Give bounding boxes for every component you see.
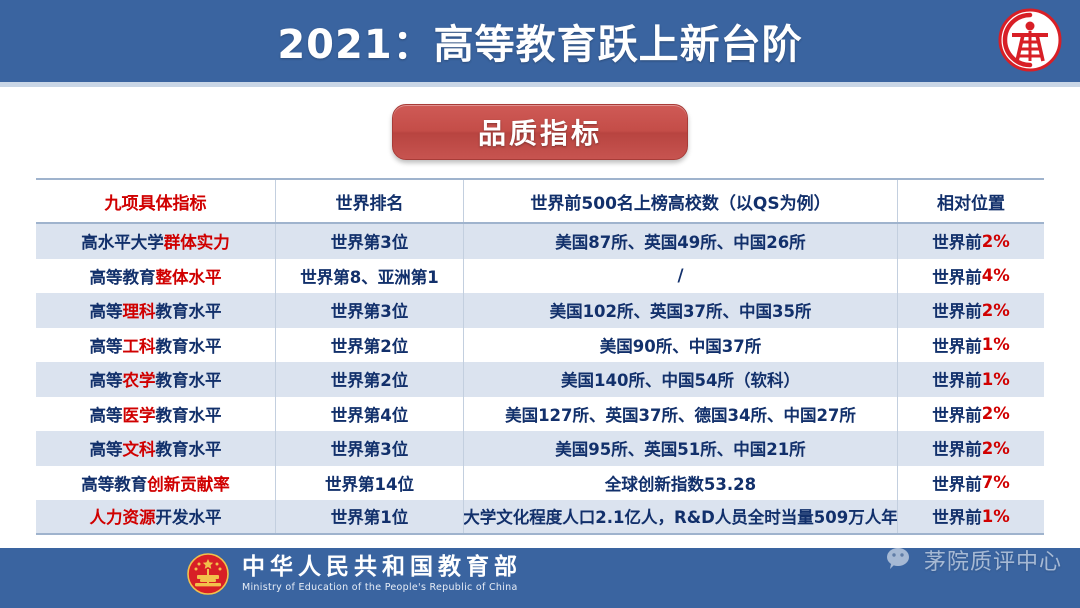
china-national-emblem-icon [186, 552, 230, 596]
indicator-text-accent: 农学 [123, 367, 156, 391]
table-row: 高等教育整体水平世界第8、亚洲第1/世界前4% [36, 259, 1044, 294]
indicator-text-accent: 人力资源 [90, 504, 156, 528]
cell-indicator: 人力资源开发水平 [36, 500, 276, 533]
table-row: 高水平大学群体实力世界第3位美国87所、英国49所、中国26所世界前2% [36, 224, 1044, 259]
cell-world-rank: 世界第3位 [276, 293, 464, 328]
column-header-qs-count: 世界前500名上榜高校数（以QS为例） [464, 180, 898, 222]
cell-relative-position: 世界前2% [898, 224, 1044, 259]
table-row: 高等理科教育水平世界第3位美国102所、英国37所、中国35所世界前2% [36, 293, 1044, 328]
table-row: 高等医学教育水平世界第4位美国127所、英国37所、德国34所、中国27所世界前… [36, 397, 1044, 432]
position-value: 2% [982, 439, 1010, 458]
cell-qs-count: 美国90所、中国37所 [464, 328, 898, 363]
indicator-text-plain: 高等 [90, 298, 123, 322]
table-row: 人力资源开发水平世界第1位大学文化程度人口2.1亿人，R&D人员全时当量509万… [36, 500, 1044, 535]
cell-qs-count: 美国95所、英国51所、中国21所 [464, 431, 898, 466]
position-value: 4% [982, 266, 1010, 285]
indicator-text-tail: 教育水平 [156, 402, 222, 426]
indicator-text-accent: 创新贡献率 [147, 471, 230, 495]
indicator-text-tail: 教育水平 [156, 367, 222, 391]
table-row: 高等文科教育水平世界第3位美国95所、英国51所、中国21所世界前2% [36, 431, 1044, 466]
table-row: 高等工科教育水平世界第2位美国90所、中国37所世界前1% [36, 328, 1044, 363]
watermark-label: 茅院质评中心 [924, 544, 1062, 576]
indicator-text-plain: 高等教育 [90, 264, 156, 288]
indicator-text-tail: 教育水平 [156, 298, 222, 322]
indicator-text-plain: 高等 [90, 367, 123, 391]
position-text-plain: 世界前 [932, 367, 982, 391]
ministry-text: 中华人民共和国教育部 Ministry of Education of the … [242, 554, 522, 594]
position-text-plain: 世界前 [932, 229, 982, 253]
indicator-text-accent: 整体水平 [156, 264, 222, 288]
wechat-icon [886, 547, 916, 573]
cell-relative-position: 世界前7% [898, 466, 1044, 501]
table-row: 高等教育创新贡献率世界第14位全球创新指数53.28世界前7% [36, 466, 1044, 501]
ministry-name-en: Ministry of Education of the People's Re… [242, 581, 522, 594]
position-value: 2% [982, 232, 1010, 251]
position-text-plain: 世界前 [932, 504, 982, 528]
cell-world-rank: 世界第1位 [276, 500, 464, 533]
cell-indicator: 高等工科教育水平 [36, 328, 276, 363]
title-banner: 2021：高等教育跃上新台阶 [0, 0, 1080, 82]
cell-qs-count: 美国87所、英国49所、中国26所 [464, 224, 898, 259]
watermark-rule [850, 538, 1062, 540]
position-text-plain: 世界前 [932, 436, 982, 460]
section-badge-wrapper: 品质指标 [0, 104, 1080, 160]
indicator-text-plain: 高等 [90, 436, 123, 460]
indicator-text-tail: 教育水平 [156, 436, 222, 460]
cell-world-rank: 世界第2位 [276, 328, 464, 363]
cell-relative-position: 世界前2% [898, 431, 1044, 466]
cell-indicator: 高等文科教育水平 [36, 431, 276, 466]
cell-relative-position: 世界前1% [898, 362, 1044, 397]
indicator-text-accent: 理科 [123, 298, 156, 322]
position-text-plain: 世界前 [932, 471, 982, 495]
ministry-block: 中华人民共和国教育部 Ministry of Education of the … [186, 552, 522, 596]
indicators-table: 九项具体指标 世界排名 世界前500名上榜高校数（以QS为例） 相对位置 高水平… [36, 178, 1044, 535]
cell-world-rank: 世界第2位 [276, 362, 464, 397]
cell-qs-count: / [464, 259, 898, 294]
table-body: 高水平大学群体实力世界第3位美国87所、英国49所、中国26所世界前2%高等教育… [36, 224, 1044, 535]
position-value: 1% [982, 370, 1010, 389]
cell-world-rank: 世界第3位 [276, 431, 464, 466]
cell-relative-position: 世界前1% [898, 500, 1044, 533]
wechat-watermark: 茅院质评中心 [886, 544, 1062, 576]
institute-tower-emblem-icon [996, 6, 1064, 74]
cell-indicator: 高等农学教育水平 [36, 362, 276, 397]
table-row: 高等农学教育水平世界第2位美国140所、中国54所（软科）世界前1% [36, 362, 1044, 397]
cell-relative-position: 世界前2% [898, 293, 1044, 328]
cell-qs-count: 美国140所、中国54所（软科） [464, 362, 898, 397]
cell-world-rank: 世界第14位 [276, 466, 464, 501]
banner-underline [0, 82, 1080, 87]
indicator-text-accent: 群体实力 [164, 229, 230, 253]
column-header-indicator: 九项具体指标 [36, 180, 276, 222]
column-header-world-rank: 世界排名 [276, 180, 464, 222]
cell-indicator: 高等理科教育水平 [36, 293, 276, 328]
position-value: 2% [982, 301, 1010, 320]
cell-indicator: 高等教育整体水平 [36, 259, 276, 294]
cell-qs-count: 全球创新指数53.28 [464, 466, 898, 501]
indicator-text-plain: 高等 [90, 402, 123, 426]
position-text-plain: 世界前 [932, 264, 982, 288]
cell-qs-count: 大学文化程度人口2.1亿人，R&D人员全时当量509万人年 [464, 500, 898, 533]
indicator-text-accent: 文科 [123, 436, 156, 460]
table-header-row: 九项具体指标 世界排名 世界前500名上榜高校数（以QS为例） 相对位置 [36, 180, 1044, 224]
position-value: 2% [982, 404, 1010, 423]
position-text-plain: 世界前 [932, 402, 982, 426]
cell-relative-position: 世界前2% [898, 397, 1044, 432]
indicator-text-plain: 高水平大学 [81, 229, 164, 253]
cell-relative-position: 世界前4% [898, 259, 1044, 294]
indicator-text-plain: 高等 [90, 333, 123, 357]
indicator-text-tail: 开发水平 [156, 504, 222, 528]
section-badge: 品质指标 [392, 104, 688, 160]
slide-root: 2021：高等教育跃上新台阶 品质指标 九项具体指标 世界排名 世界前500名上… [0, 0, 1080, 608]
indicator-text-plain: 高等教育 [81, 471, 147, 495]
cell-qs-count: 美国127所、英国37所、德国34所、中国27所 [464, 397, 898, 432]
cell-indicator: 高等医学教育水平 [36, 397, 276, 432]
position-text-plain: 世界前 [932, 298, 982, 322]
cell-world-rank: 世界第8、亚洲第1 [276, 259, 464, 294]
indicator-text-accent: 工科 [123, 333, 156, 357]
position-value: 1% [982, 335, 1010, 354]
column-header-relative-pos: 相对位置 [898, 180, 1044, 222]
cell-qs-count: 美国102所、英国37所、中国35所 [464, 293, 898, 328]
ministry-name-cn: 中华人民共和国教育部 [242, 554, 522, 580]
section-badge-label: 品质指标 [478, 112, 602, 152]
position-text-plain: 世界前 [932, 333, 982, 357]
cell-indicator: 高水平大学群体实力 [36, 224, 276, 259]
page-title: 2021：高等教育跃上新台阶 [277, 12, 802, 70]
position-value: 1% [982, 507, 1010, 526]
cell-indicator: 高等教育创新贡献率 [36, 466, 276, 501]
cell-world-rank: 世界第4位 [276, 397, 464, 432]
position-value: 7% [982, 473, 1010, 492]
indicator-text-tail: 教育水平 [156, 333, 222, 357]
cell-world-rank: 世界第3位 [276, 224, 464, 259]
indicator-text-accent: 医学 [123, 402, 156, 426]
cell-relative-position: 世界前1% [898, 328, 1044, 363]
